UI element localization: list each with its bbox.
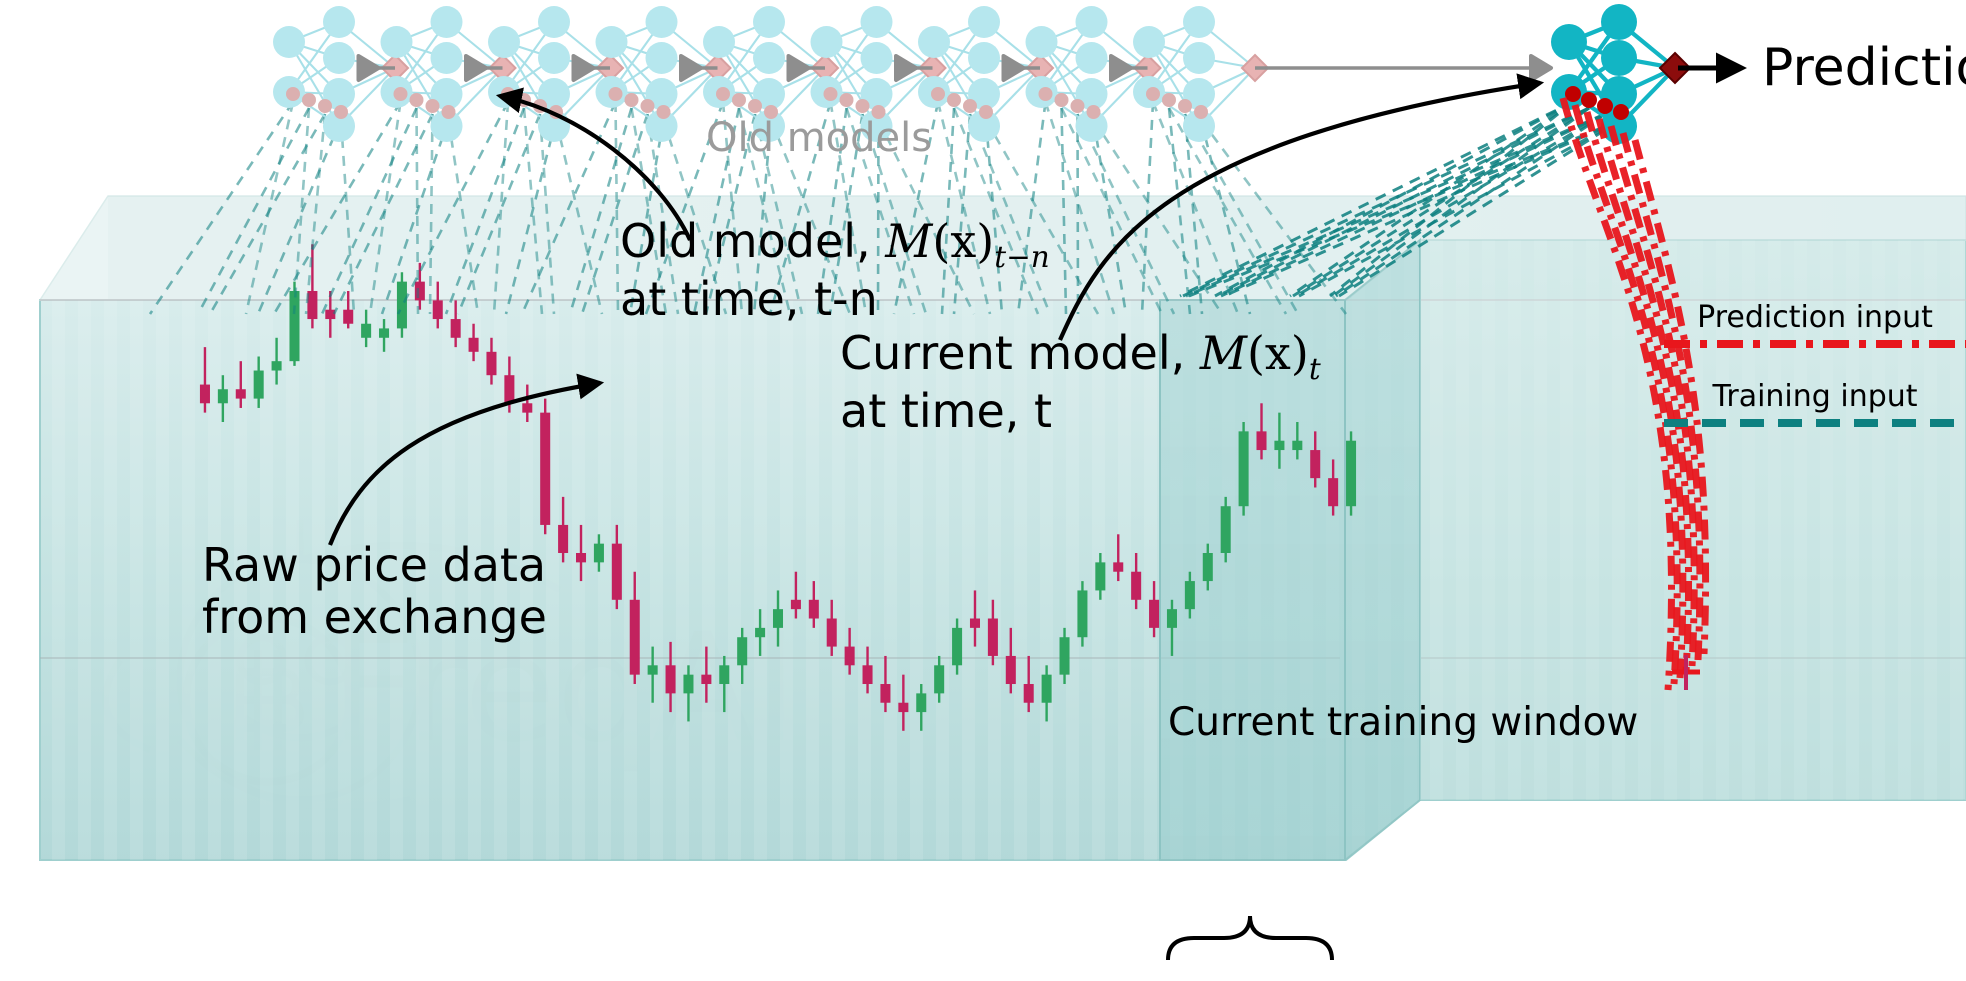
legend-swatch-prediction-input (1664, 335, 1966, 353)
old-model-annotation: Old model, M(x)t−n at time, t-n (620, 216, 1050, 326)
old-models-label: Old models (706, 115, 932, 161)
legend-item-training-input: Training input (1664, 379, 1966, 436)
prediction-label: Prediction (1762, 38, 1966, 98)
arrow-to-raw-price-data (330, 383, 600, 545)
raw-price-annotation-line1: Raw price data (202, 540, 547, 592)
current-training-window-label: Current training window (1168, 700, 1638, 745)
current-model-math-sub: t (1309, 352, 1321, 386)
current-model-math-x: (x) (1247, 326, 1309, 380)
current-model-annotation-line2: at time, t (840, 386, 1321, 438)
legend-label-training-input: Training input (1664, 379, 1966, 414)
old-model-math-sub: t−n (994, 240, 1049, 274)
old-model-annotation-line2: at time, t-n (620, 274, 1050, 326)
legend-label-prediction-input: Prediction input (1664, 300, 1966, 335)
annotation-arrows (0, 0, 1966, 981)
old-model-math-M: M (885, 214, 932, 268)
old-model-math-x: (x) (932, 214, 994, 268)
diagram-root: FreqAI (0, 0, 1966, 981)
legend-swatch-training-input (1664, 414, 1966, 432)
arrow-to-current-model (1060, 83, 1540, 340)
training-window-brace (1168, 916, 1332, 960)
current-model-math-M: M (1200, 326, 1247, 380)
raw-price-annotation-line2: from exchange (202, 592, 547, 644)
legend: Prediction input Training input (1664, 300, 1966, 436)
old-model-annotation-line1: Old model, M(x)t−n (620, 216, 1050, 274)
legend-item-prediction-input: Prediction input (1664, 300, 1966, 357)
current-model-annotation-line1: Current model, M(x)t (840, 328, 1321, 386)
current-model-annotation: Current model, M(x)t at time, t (840, 328, 1321, 438)
raw-price-annotation: Raw price data from exchange (202, 540, 547, 643)
